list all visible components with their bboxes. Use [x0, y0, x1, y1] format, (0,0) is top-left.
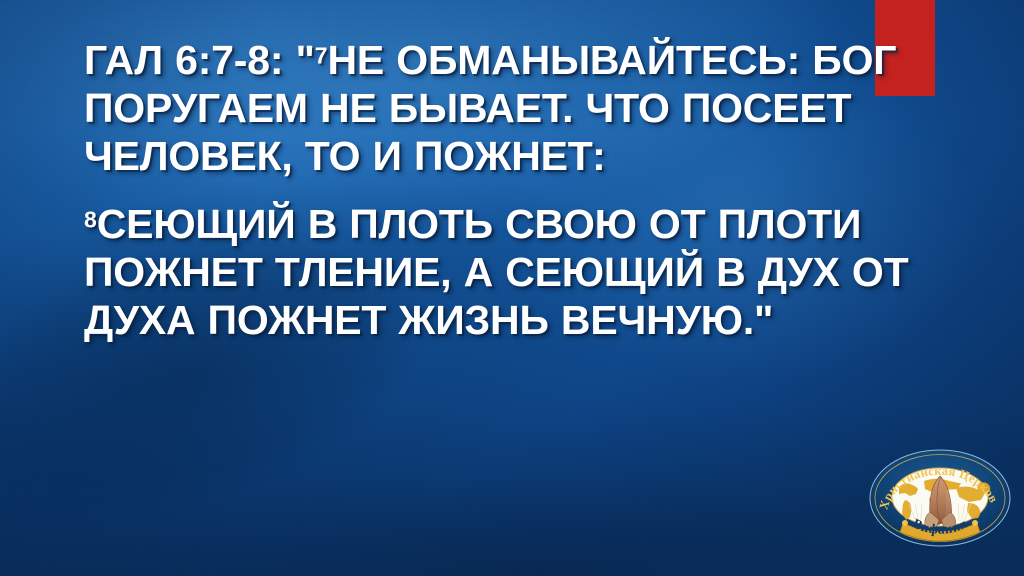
verse-text-before-highlight: НЕ ОБМАНЫВАЙТЕСЬ: [328, 37, 813, 83]
verse-text-after-highlight: ПОРУГАЕМ НЕ БЫВАЕТ. ЧТО ПОСЕЕТ ЧЕЛОВЕК, … [84, 85, 851, 179]
opening-quote-mark: " [296, 37, 315, 83]
highlighted-word-god: БОГ [812, 37, 896, 83]
verse-paragraph-2: 8СЕЮЩИЙ В ПЛОТЬ СВОЮ ОТ ПЛОТИ ПОЖНЕТ ТЛЕ… [84, 200, 964, 344]
scripture-text-block: ГАЛ 6:7-8: "7НЕ ОБМАНЫВАЙТЕСЬ: БОГ ПОРУГ… [84, 36, 964, 344]
verse-paragraph-1: ГАЛ 6:7-8: "7НЕ ОБМАНЫВАЙТЕСЬ: БОГ ПОРУГ… [84, 36, 964, 180]
verse-reference: ГАЛ 6:7-8: [84, 37, 296, 83]
verse-number-7: 7 [315, 42, 328, 68]
presentation-slide: ГАЛ 6:7-8: "7НЕ ОБМАНЫВАЙТЕСЬ: БОГ ПОРУГ… [0, 0, 1024, 576]
verse-text-8: СЕЮЩИЙ В ПЛОТЬ СВОЮ ОТ ПЛОТИ ПОЖНЕТ ТЛЕН… [84, 201, 908, 343]
verse-number-8: 8 [84, 206, 97, 232]
bethany-christian-church-logo: Христианская Церковь Вифания [868, 448, 1012, 548]
